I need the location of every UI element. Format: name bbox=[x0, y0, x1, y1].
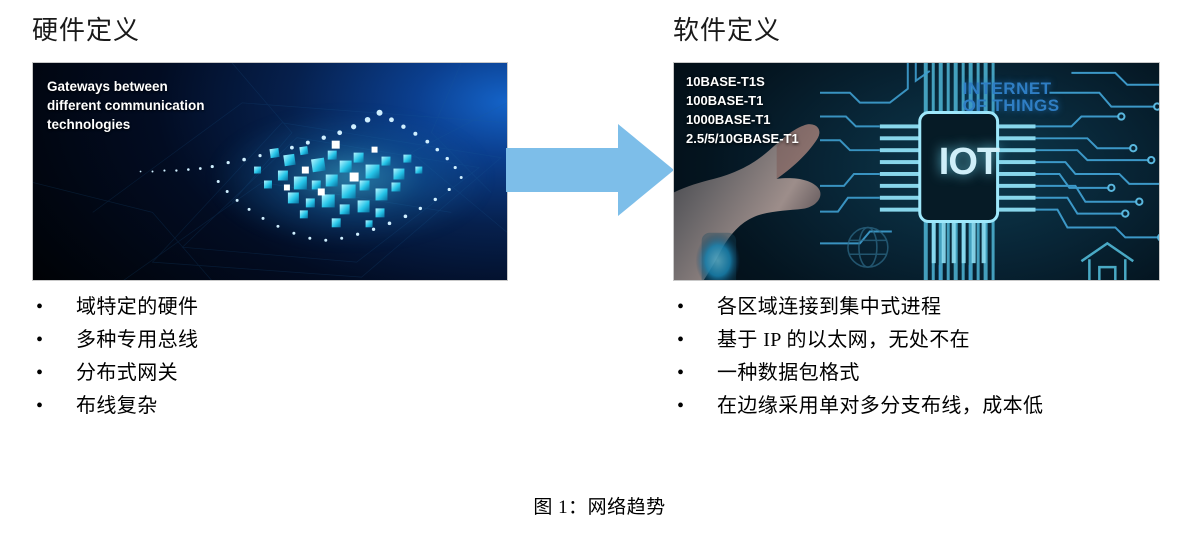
bullet-marker-icon: • bbox=[677, 396, 717, 416]
figure-slide: 硬件定义 bbox=[0, 0, 1199, 535]
bullet-marker-icon: • bbox=[36, 396, 76, 416]
list-item: • 在边缘采用单对多分支布线，成本低 bbox=[677, 389, 1043, 422]
list-item: • 布线复杂 bbox=[36, 389, 198, 422]
list-item: • 分布式网关 bbox=[36, 356, 198, 389]
bullet-text: 基于 IP 的以太网，无处不在 bbox=[717, 323, 970, 352]
list-item: • 多种专用总线 bbox=[36, 323, 198, 356]
right-column-title: 软件定义 bbox=[673, 16, 781, 45]
list-item: • 域特定的硬件 bbox=[36, 290, 198, 323]
iot-standards-list: 10BASE-T1S 100BASE-T1 1000BASE-T1 2.5/5/… bbox=[686, 73, 799, 148]
internet-of-things-tagline: INTERNET OF THINGS bbox=[963, 80, 1060, 114]
bullet-text: 在边缘采用单对多分支布线，成本低 bbox=[717, 389, 1043, 418]
bullet-text: 布线复杂 bbox=[76, 389, 158, 418]
bullet-text: 域特定的硬件 bbox=[76, 290, 198, 319]
iot-standard-item: 100BASE-T1 bbox=[686, 92, 799, 111]
iot-standard-item: 10BASE-T1S bbox=[686, 73, 799, 92]
left-column-title: 硬件定义 bbox=[32, 16, 140, 45]
bullet-text: 各区域连接到集中式进程 bbox=[717, 290, 941, 319]
bullet-marker-icon: • bbox=[677, 330, 717, 350]
bullet-marker-icon: • bbox=[36, 330, 76, 350]
bullet-text: 一种数据包格式 bbox=[717, 356, 860, 385]
bullet-marker-icon: • bbox=[36, 297, 76, 317]
iot-image: 10BASE-T1S 100BASE-T1 1000BASE-T1 2.5/5/… bbox=[673, 62, 1160, 281]
bullet-text: 分布式网关 bbox=[76, 356, 178, 385]
right-bullet-list: • 各区域连接到集中式进程 • 基于 IP 的以太网，无处不在 • 一种数据包格… bbox=[677, 290, 1043, 422]
tagline-line-1: INTERNET bbox=[963, 80, 1060, 97]
bullet-marker-icon: • bbox=[36, 363, 76, 383]
list-item: • 基于 IP 的以太网，无处不在 bbox=[677, 323, 1043, 356]
gateways-image-overlay-text: Gateways between different communication… bbox=[47, 77, 205, 134]
iot-standard-item: 2.5/5/10GBASE-T1 bbox=[686, 130, 799, 149]
bullet-text: 多种专用总线 bbox=[76, 323, 198, 352]
gateways-image: Gateways between different communication… bbox=[32, 62, 508, 281]
tagline-line-2: OF THINGS bbox=[963, 97, 1060, 114]
list-item: • 各区域连接到集中式进程 bbox=[677, 290, 1043, 323]
transition-arrow-right-icon bbox=[506, 120, 674, 220]
left-bullet-list: • 域特定的硬件 • 多种专用总线 • 分布式网关 • 布线复杂 bbox=[36, 290, 198, 422]
iot-standard-item: 1000BASE-T1 bbox=[686, 111, 799, 130]
bullet-marker-icon: • bbox=[677, 363, 717, 383]
list-item: • 一种数据包格式 bbox=[677, 356, 1043, 389]
iot-chip-label: IOT bbox=[939, 141, 999, 184]
figure-caption: 图 1：网络趋势 bbox=[0, 492, 1199, 519]
bullet-marker-icon: • bbox=[677, 297, 717, 317]
